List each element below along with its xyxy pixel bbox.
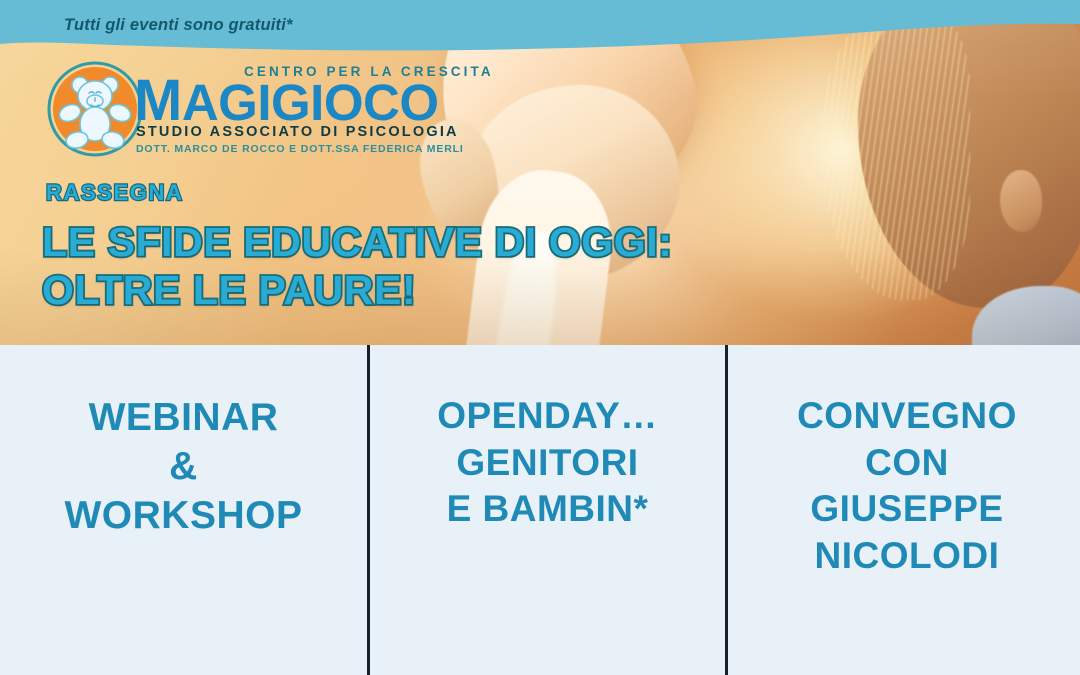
event-line: E BAMBIN* [437,486,658,533]
headline-line-2: OLTRE LE PAURE! [42,266,672,314]
event-line: GENITORI [437,440,658,487]
logo-practitioners: DOTT. MARCO DE ROCCO E DOTT.SSA FEDERICA… [136,143,464,155]
logo-subtitle: STUDIO ASSOCIATO DI PSICOLOGIA [136,124,459,140]
event-line: NICOLODI [797,533,1017,580]
headline-title: LE SFIDE EDUCATIVE DI OGGI: OLTRE LE PAU… [42,218,672,315]
free-events-note: Tutti gli eventi sono gratuiti* [64,16,293,35]
headline-eyebrow: RASSEGNA [46,180,184,206]
event-column-webinar-workshop[interactable]: WEBINAR & WORKSHOP [0,345,367,675]
event-line: & [65,442,303,491]
event-column-text: WEBINAR & WORKSHOP [65,393,303,540]
event-line: GIUSEPPE [797,486,1017,533]
event-line: WEBINAR [65,393,303,442]
logo-name-rest: AGIGIOCO [182,74,439,131]
event-column-convegno[interactable]: CONVEGNO CON GIUSEPPE NICOLODI [728,345,1080,675]
logo-name: MAGIGIOCO [134,72,439,130]
hero-banner: Tutti gli eventi sono gratuiti* [0,0,1080,345]
magigioco-logo: CENTRO PER LA CRESCITA MAGIGIOCO STUDIO … [46,58,446,164]
event-column-openday[interactable]: OPENDAY… GENITORI E BAMBIN* [370,345,725,675]
event-line: WORKSHOP [65,491,303,540]
event-column-text: OPENDAY… GENITORI E BAMBIN* [437,393,658,533]
teddy-bear-icon [46,60,144,158]
headline-line-1: LE SFIDE EDUCATIVE DI OGGI: [42,219,672,265]
event-line: CON [797,440,1017,487]
events-panel: WEBINAR & WORKSHOP OPENDAY… GENITORI E B… [0,345,1080,675]
event-line: CONVEGNO [797,393,1017,440]
event-column-text: CONVEGNO CON GIUSEPPE NICOLODI [797,393,1017,579]
event-line: OPENDAY… [437,393,658,440]
poster-root: Tutti gli eventi sono gratuiti* [0,0,1080,675]
